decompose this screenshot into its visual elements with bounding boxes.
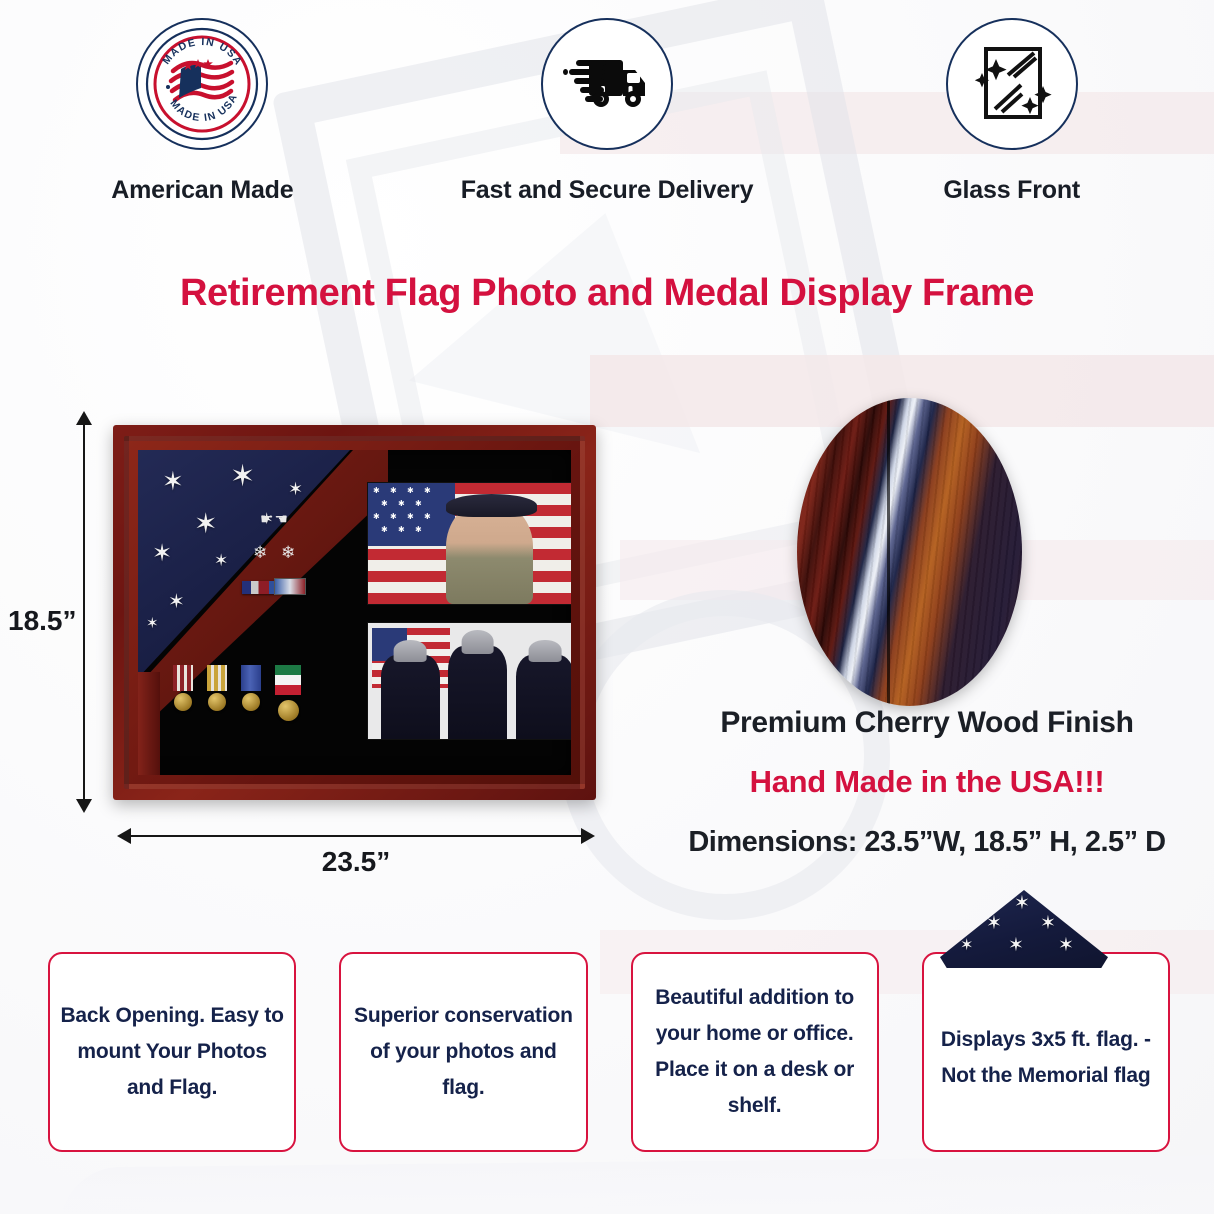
height-dimension-line [83, 424, 85, 800]
case-photo-soldier: ✱ ✱ ✱ ✱ ✱ ✱ ✱ ✱ ✱ ✱ ✱ ✱ ✱ ✱ [367, 482, 571, 605]
folded-flag-icon: ✶ ✶ ✶ ✶ ✶ ✶ [940, 890, 1108, 968]
right-info-block: Premium Cherry Wood Finish Hand Made in … [640, 706, 1214, 859]
feature-box-flag-size: Displays 3x5 ft. flag. - Not the Memoria… [922, 952, 1170, 1152]
feature-text: Back Opening. Easy to mount Your Photos … [60, 998, 284, 1106]
watermark-bar [59, 1152, 1214, 1214]
folded-flag-in-case: ✶ ✶ ✶ ✶ ✶ ✶ ✶ ✶ ✶ [138, 450, 350, 678]
case-photo-marines [367, 622, 571, 740]
feature-text: Superior conservation of your photos and… [351, 998, 575, 1106]
medal-group [173, 665, 301, 721]
service-ribbon-bar [274, 578, 306, 595]
dimensions-label: Dimensions: 23.5”W, 18.5” H, 2.5” D [640, 826, 1214, 859]
case-interior: ✶ ✶ ✶ ✶ ✶ ✶ ✶ ✶ ✶ ☛☚ ❄ ❄ [138, 450, 571, 775]
feature-box-home-office: Beautiful addition to your home or offic… [631, 952, 879, 1152]
handmade-label: Hand Made in the USA!!! [640, 764, 1214, 800]
cherry-wood-detail-image [797, 398, 1022, 706]
medal [207, 665, 227, 721]
product-infographic: MADE IN USA MADE IN USA American Made [0, 0, 1214, 1214]
rank-insignia-leaf: ❄ [281, 543, 295, 563]
rank-insignia-leaf: ❄ [253, 543, 267, 563]
case-wood-column [138, 672, 160, 775]
made-in-usa-seal-icon: MADE IN USA MADE IN USA [136, 18, 268, 150]
feature-text: Displays 3x5 ft. flag. - Not the Memoria… [934, 1022, 1158, 1094]
page-title: Retirement Flag Photo and Medal Display … [0, 272, 1214, 315]
badge-label: Glass Front [943, 172, 1080, 208]
medal-kuwait-liberation [275, 665, 301, 721]
product-display-case-image: ✶ ✶ ✶ ✶ ✶ ✶ ✶ ✶ ✶ ☛☚ ❄ ❄ [113, 425, 596, 800]
width-dimension-line [130, 835, 582, 837]
badge-american-made: MADE IN USA MADE IN USA American Made [0, 18, 405, 258]
badge-glass-front: Glass Front [809, 18, 1214, 258]
feature-box-conservation: Superior conservation of your photos and… [339, 952, 587, 1152]
rank-insignia-wings: ☛☚ [260, 510, 289, 528]
case-bevel: ✶ ✶ ✶ ✶ ✶ ✶ ✶ ✶ ✶ ☛☚ ❄ ❄ [124, 436, 585, 789]
delivery-truck-icon [541, 18, 673, 150]
feature-box-row: Back Opening. Easy to mount Your Photos … [48, 952, 1170, 1152]
badge-fast-delivery: Fast and Secure Delivery [405, 18, 810, 258]
badge-label: American Made [111, 172, 293, 208]
finish-label: Premium Cherry Wood Finish [640, 706, 1214, 740]
feature-text: Beautiful addition to your home or offic… [643, 980, 867, 1124]
medal [173, 665, 193, 721]
medal [241, 665, 261, 721]
feature-box-back-opening: Back Opening. Easy to mount Your Photos … [48, 952, 296, 1152]
width-dimension-label: 23.5” [0, 846, 712, 878]
feature-badge-row: MADE IN USA MADE IN USA American Made [0, 18, 1214, 258]
badge-label: Fast and Secure Delivery [461, 172, 754, 208]
height-dimension-label: 18.5” [8, 605, 77, 637]
glass-pane-icon [946, 18, 1078, 150]
